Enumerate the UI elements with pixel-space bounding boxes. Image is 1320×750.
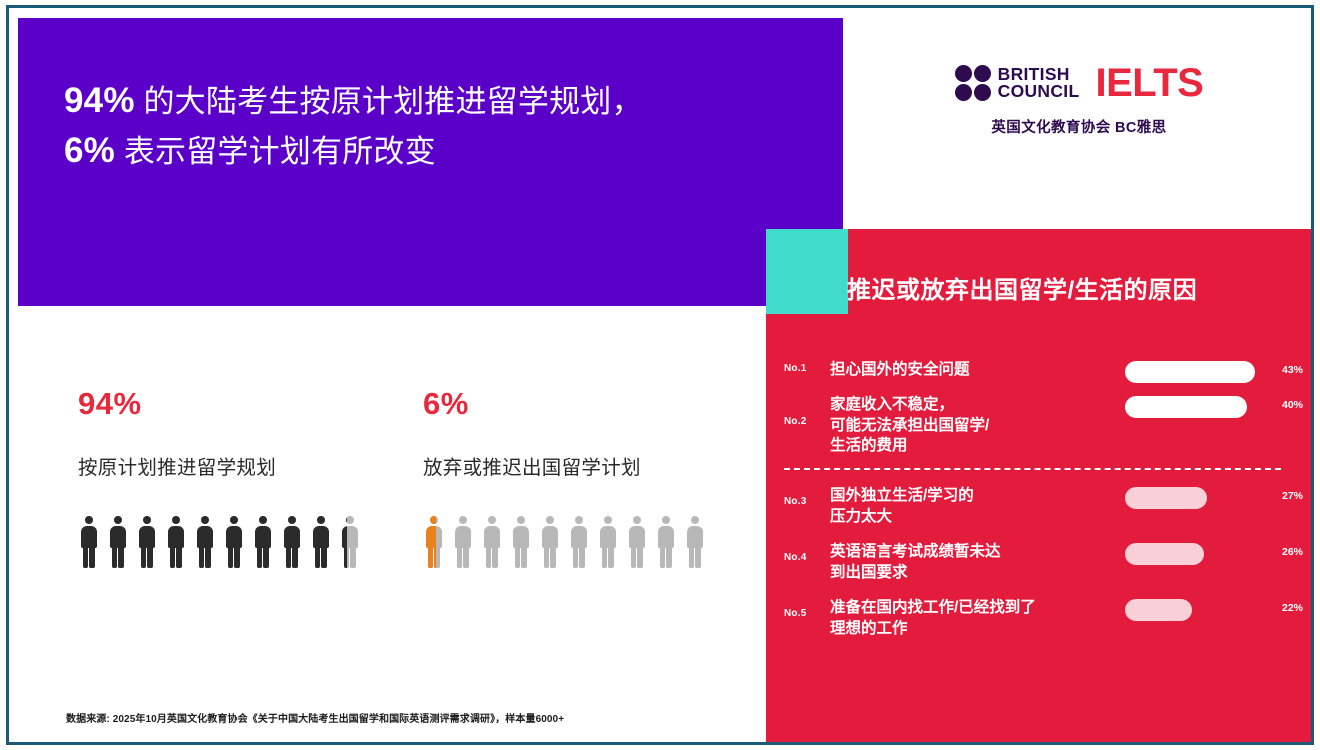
reasons-panel-title: 推迟或放弃出国留学/生活的原因 <box>847 270 1197 305</box>
stat-block-94: 94% 按原计划推进留学规划 <box>78 386 408 568</box>
reason-row: No.5准备在国内找工作/已经找到了理想的工作22% <box>766 598 1311 640</box>
reason-rank-label: No.1 <box>784 360 830 374</box>
stat-block-6: 6% 放弃或推迟出国留学计划 <box>423 386 753 568</box>
reason-text: 家庭收入不稳定，可能无法承担出国留学/生活的费用 <box>830 395 1125 457</box>
reason-percentage: 22% <box>1282 602 1303 614</box>
reason-rank-label: No.2 <box>784 395 830 427</box>
reason-bar <box>1125 543 1204 565</box>
reason-percentage: 26% <box>1282 546 1303 558</box>
reasons-rank-list: No.1担心国外的安全问题43%No.2家庭收入不稳定，可能无法承担出国留学/生… <box>766 360 1311 654</box>
logo-chinese-subtitle: 英国文化教育协会 BC雅思 <box>869 116 1289 137</box>
reason-percentage: 43% <box>1282 364 1303 376</box>
reason-bar-wrapper: 40% <box>1125 396 1305 418</box>
person-icon <box>339 516 360 568</box>
person-icon <box>655 516 676 568</box>
stat-percentage: 94% <box>78 386 408 422</box>
pictogram-6 <box>423 516 753 568</box>
person-icon <box>252 516 273 568</box>
reason-rank-label: No.4 <box>784 542 830 563</box>
person-icon <box>165 516 186 568</box>
pictogram-94 <box>78 516 408 568</box>
brand-logo: BRITISH COUNCIL IELTS 英国文化教育协会 BC雅思 <box>869 63 1289 137</box>
logo-council-text: COUNCIL <box>998 83 1080 101</box>
hero-line2-text: 表示留学计划有所改变 <box>115 134 436 169</box>
reason-percentage: 40% <box>1282 399 1303 411</box>
reason-row: No.4英语语言考试成绩暂未达到出国要求26% <box>766 542 1311 584</box>
stat-description: 按原计划推进留学规划 <box>78 451 408 480</box>
reason-row: No.3国外独立生活/学习的压力太大27% <box>766 486 1311 528</box>
reason-percentage: 27% <box>1282 490 1303 502</box>
person-icon <box>223 516 244 568</box>
person-icon <box>626 516 647 568</box>
hero-purple-panel: 94% 的大陆考生按原计划推进留学规划， 6% 表示留学计划有所改变 <box>18 18 843 306</box>
slide-frame: 94% 的大陆考生按原计划推进留学规划， 6% 表示留学计划有所改变 BRITI… <box>6 5 1314 745</box>
british-council-logo: BRITISH COUNCIL <box>955 65 1080 101</box>
reason-text: 英语语言考试成绩暂未达到出国要求 <box>830 542 1125 583</box>
teal-accent-square <box>766 229 848 314</box>
british-council-dots-icon <box>955 65 991 101</box>
reason-bar-wrapper: 27% <box>1125 487 1305 509</box>
stats-area: 94% 按原计划推进留学规划 6% 放弃或推迟出国留学计划 <box>18 308 766 742</box>
reason-text: 准备在国内找工作/已经找到了理想的工作 <box>830 598 1125 639</box>
person-icon <box>481 516 502 568</box>
person-icon <box>510 516 531 568</box>
reason-bar <box>1125 599 1192 621</box>
hero-pct-94: 94% <box>64 81 135 120</box>
slide-canvas: 94% 的大陆考生按原计划推进留学规划， 6% 表示留学计划有所改变 BRITI… <box>9 8 1311 742</box>
reason-text: 担心国外的安全问题 <box>830 360 1125 381</box>
ielts-logo: IELTS <box>1095 63 1203 103</box>
person-icon <box>310 516 331 568</box>
reason-row: No.1担心国外的安全问题43% <box>766 360 1311 381</box>
reason-rank-label: No.3 <box>784 486 830 507</box>
reason-row: No.2家庭收入不稳定，可能无法承担出国留学/生活的费用40% <box>766 395 1311 458</box>
reason-bar <box>1125 487 1207 509</box>
stat-percentage: 6% <box>423 386 753 422</box>
hero-pct-6: 6% <box>64 131 115 170</box>
reason-rank-label: No.5 <box>784 598 830 619</box>
reason-text: 国外独立生活/学习的压力太大 <box>830 486 1125 527</box>
british-council-wordmark: BRITISH COUNCIL <box>998 66 1080 101</box>
person-icon <box>78 516 99 568</box>
person-icon <box>281 516 302 568</box>
stat-description: 放弃或推迟出国留学计划 <box>423 451 753 480</box>
person-icon <box>194 516 215 568</box>
person-icon <box>684 516 705 568</box>
reason-bar <box>1125 361 1255 383</box>
reasons-divider <box>784 468 1281 470</box>
reason-bar-wrapper: 43% <box>1125 361 1305 383</box>
person-icon <box>136 516 157 568</box>
reason-bar-wrapper: 22% <box>1125 599 1305 621</box>
hero-line1-text: 的大陆考生按原计划推进留学规划， <box>135 84 643 119</box>
person-icon <box>452 516 473 568</box>
logo-row: BRITISH COUNCIL IELTS <box>869 63 1289 103</box>
person-icon <box>597 516 618 568</box>
person-icon <box>107 516 128 568</box>
person-icon <box>423 516 444 568</box>
page-title: 94% 的大陆考生按原计划推进留学规划， 6% 表示留学计划有所改变 <box>64 76 804 175</box>
reason-bar-wrapper: 26% <box>1125 543 1305 565</box>
person-icon <box>539 516 560 568</box>
reason-bar <box>1125 396 1247 418</box>
footer-source-note: 数据来源: 2025年10月英国文化教育协会《关于中国大陆考生出国留学和国际英语… <box>66 710 564 725</box>
person-icon <box>568 516 589 568</box>
